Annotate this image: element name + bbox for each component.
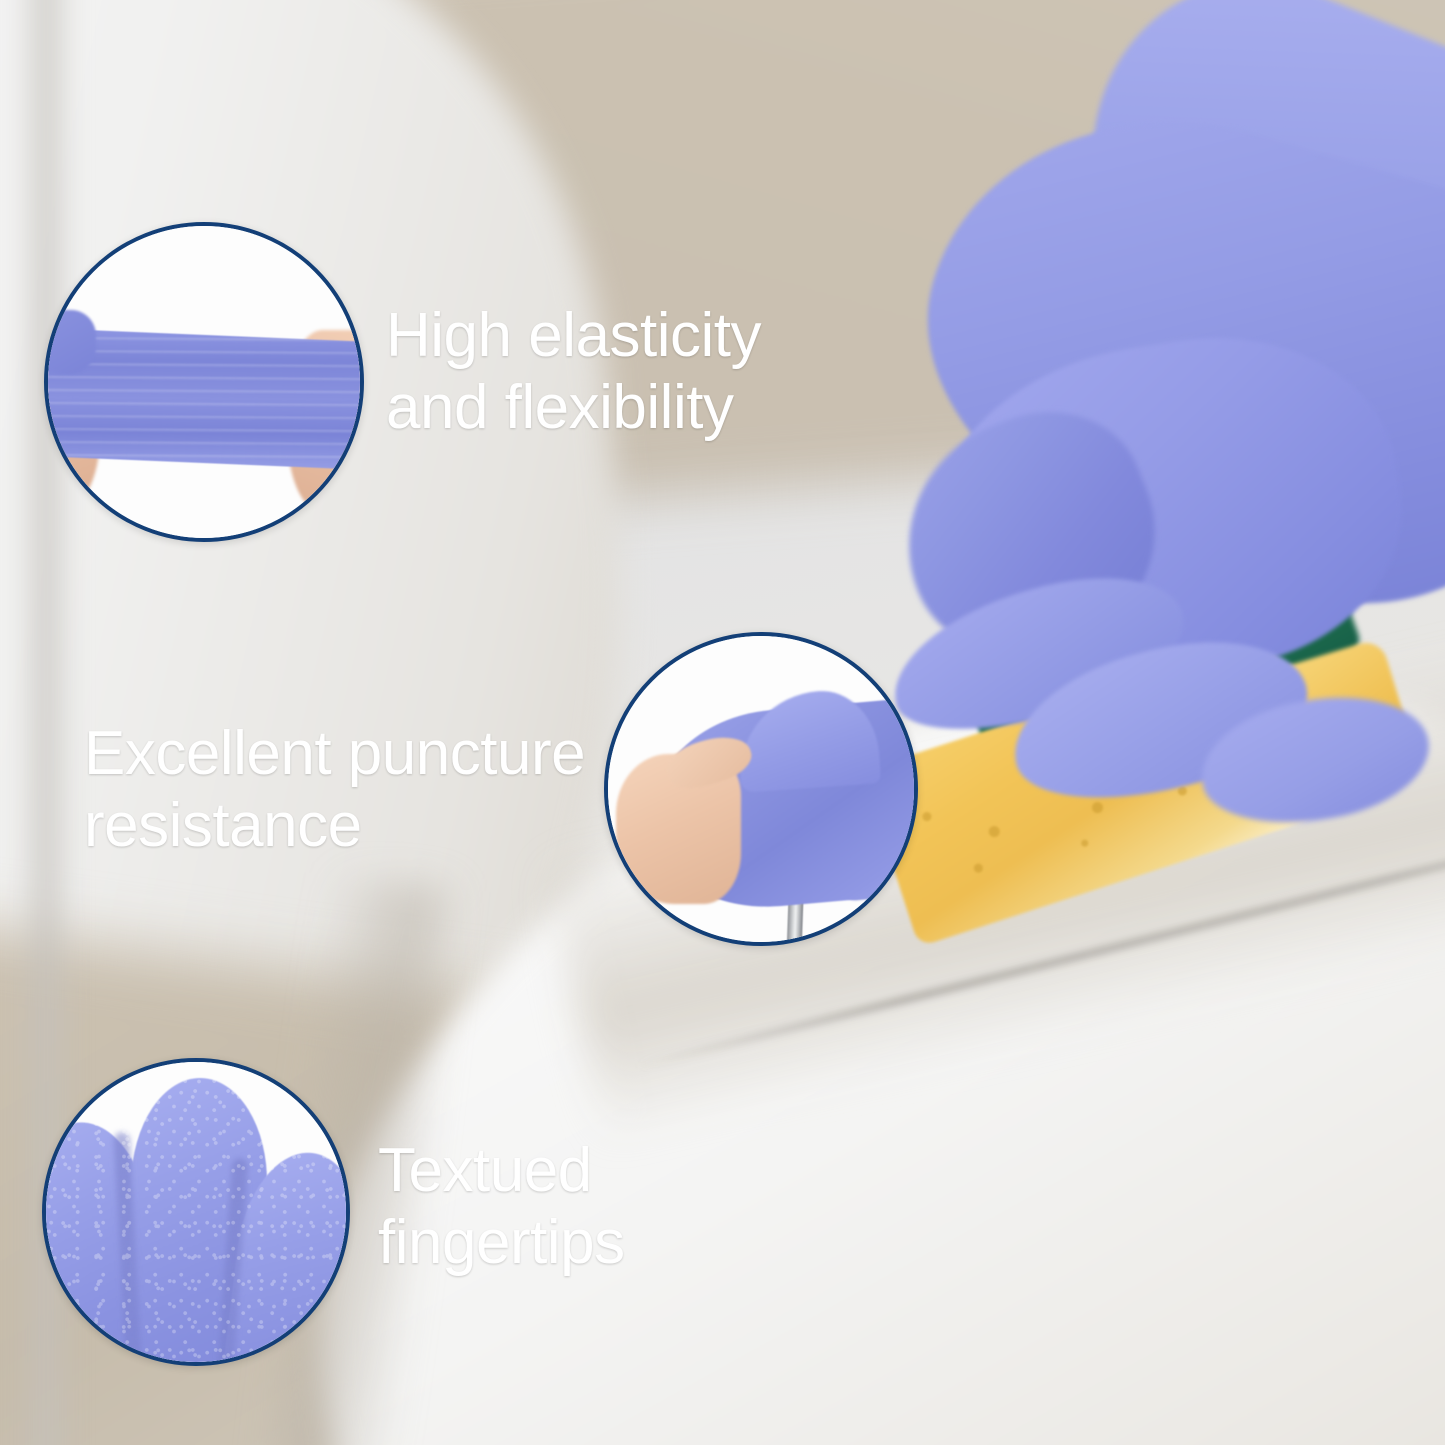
feature-thumbnail-textured-fingertips bbox=[42, 1058, 350, 1366]
thumbnail-backdrop-3 bbox=[46, 1062, 346, 1362]
thumbnail-fingertip-texture bbox=[46, 1062, 346, 1362]
thumbnail-glove-grip bbox=[44, 310, 96, 374]
feature-label-high-elasticity: High elasticity and flexibility bbox=[386, 300, 856, 444]
thumbnail-backdrop-1 bbox=[48, 226, 360, 538]
feature-thumbnail-puncture-resistance bbox=[604, 632, 918, 946]
feature-thumbnail-high-elasticity bbox=[44, 222, 364, 542]
feature-label-textured-fingertips: Textued fingertips bbox=[378, 1135, 808, 1279]
feature-label-puncture-resistance: Excellent puncture resistance bbox=[84, 718, 644, 862]
thumbnail-backdrop-2 bbox=[608, 636, 914, 942]
product-feature-infographic: High elasticity and flexibility Excellen… bbox=[0, 0, 1445, 1445]
